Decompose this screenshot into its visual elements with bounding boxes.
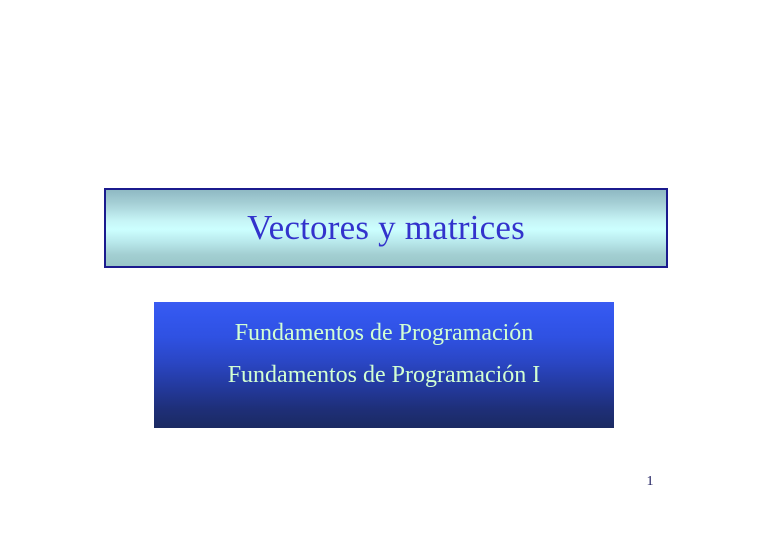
subtitle-line-2: Fundamentos de Programación I — [228, 354, 541, 396]
slide-canvas: Vectores y matrices Fundamentos de Progr… — [0, 0, 768, 543]
page-number: 1 — [640, 474, 660, 490]
subtitle-line-1: Fundamentos de Programación — [235, 312, 534, 354]
subtitle-placeholder-box[interactable]: Fundamentos de Programación Fundamentos … — [154, 302, 614, 428]
page-title: Vectores y matrices — [247, 209, 525, 248]
title-placeholder-box[interactable]: Vectores y matrices — [104, 188, 668, 268]
